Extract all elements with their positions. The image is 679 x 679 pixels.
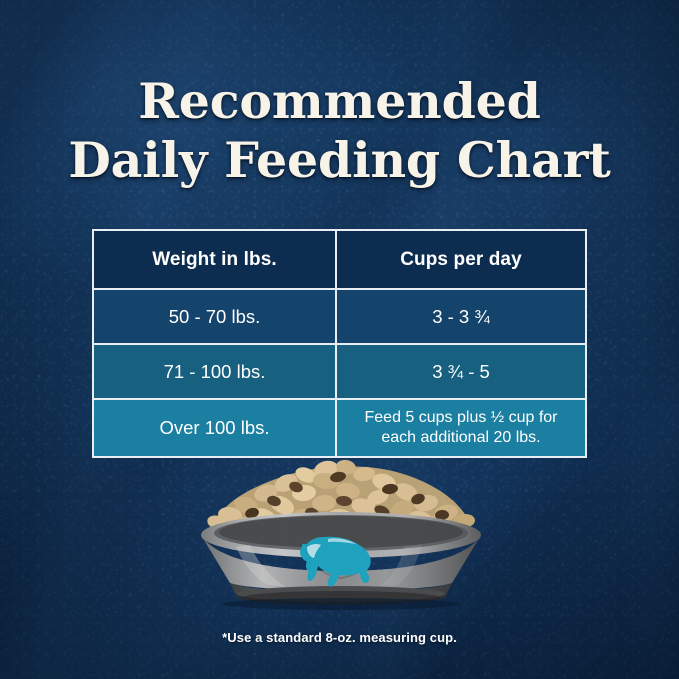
column-header-weight: Weight in lbs. [94, 231, 337, 288]
cell-cups-per-day: 3 - 3 ¾ [337, 290, 585, 343]
page-title-line-1: Recommended [0, 72, 679, 131]
cell-cups-per-day: 3 ¾ - 5 [337, 345, 585, 398]
table-row: 50 - 70 lbs. 3 - 3 ¾ [94, 288, 585, 343]
cell-cups-line-2: each additional 20 lbs. [365, 428, 558, 448]
cell-cups-line-1: Feed 5 cups plus ½ cup for [365, 408, 558, 428]
column-header-cups: Cups per day [337, 231, 585, 288]
page-title-line-2: Daily Feeding Chart [0, 131, 679, 190]
feeding-chart-page: Recommended Daily Feeding Chart Weight i… [0, 0, 679, 679]
table-row: Over 100 lbs. Feed 5 cups plus ½ cup for… [94, 398, 585, 456]
cell-weight-range: 50 - 70 lbs. [94, 290, 337, 343]
page-title: Recommended Daily Feeding Chart [0, 72, 679, 190]
cell-weight-range: Over 100 lbs. [94, 400, 337, 456]
cell-cups-per-day: Feed 5 cups plus ½ cup for each addition… [337, 400, 585, 456]
dog-food-bowl-image [178, 455, 504, 610]
footnote-text: *Use a standard 8-oz. measuring cup. [0, 630, 679, 645]
table-row: 71 - 100 lbs. 3 ¾ - 5 [94, 343, 585, 398]
cell-weight-range: 71 - 100 lbs. [94, 345, 337, 398]
feeding-chart-table: Weight in lbs. Cups per day 50 - 70 lbs.… [92, 229, 587, 458]
table-header-row: Weight in lbs. Cups per day [94, 231, 585, 288]
